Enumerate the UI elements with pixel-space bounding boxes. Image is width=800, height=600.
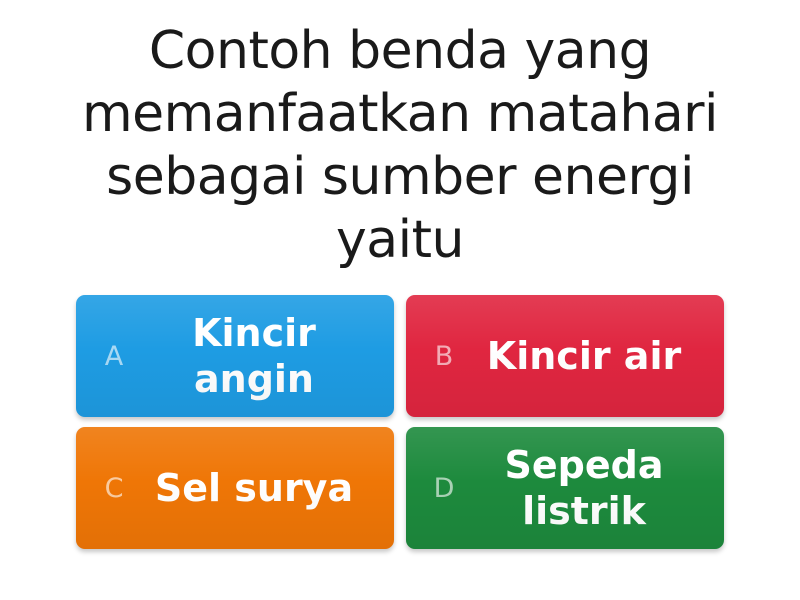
- answer-letter-b: B: [424, 343, 464, 370]
- answer-letter-d: D: [424, 475, 464, 502]
- answer-option-d[interactable]: D Sepeda listrik: [406, 427, 724, 549]
- answer-option-b[interactable]: B Kincir air: [406, 295, 724, 417]
- answer-option-a[interactable]: A Kincir angin: [76, 295, 394, 417]
- answer-options-grid: A Kincir angin B Kincir air C Sel surya …: [76, 295, 724, 549]
- answer-label-d: Sepeda listrik: [464, 442, 710, 534]
- page-title: Contoh benda yang memanfaatkan matahari …: [70, 20, 730, 272]
- answer-letter-c: C: [94, 475, 134, 502]
- answer-option-c[interactable]: C Sel surya: [76, 427, 394, 549]
- answer-label-b: Kincir air: [464, 333, 710, 379]
- answer-label-a: Kincir angin: [134, 310, 380, 402]
- answer-letter-a: A: [94, 343, 134, 370]
- answer-label-c: Sel surya: [134, 465, 380, 511]
